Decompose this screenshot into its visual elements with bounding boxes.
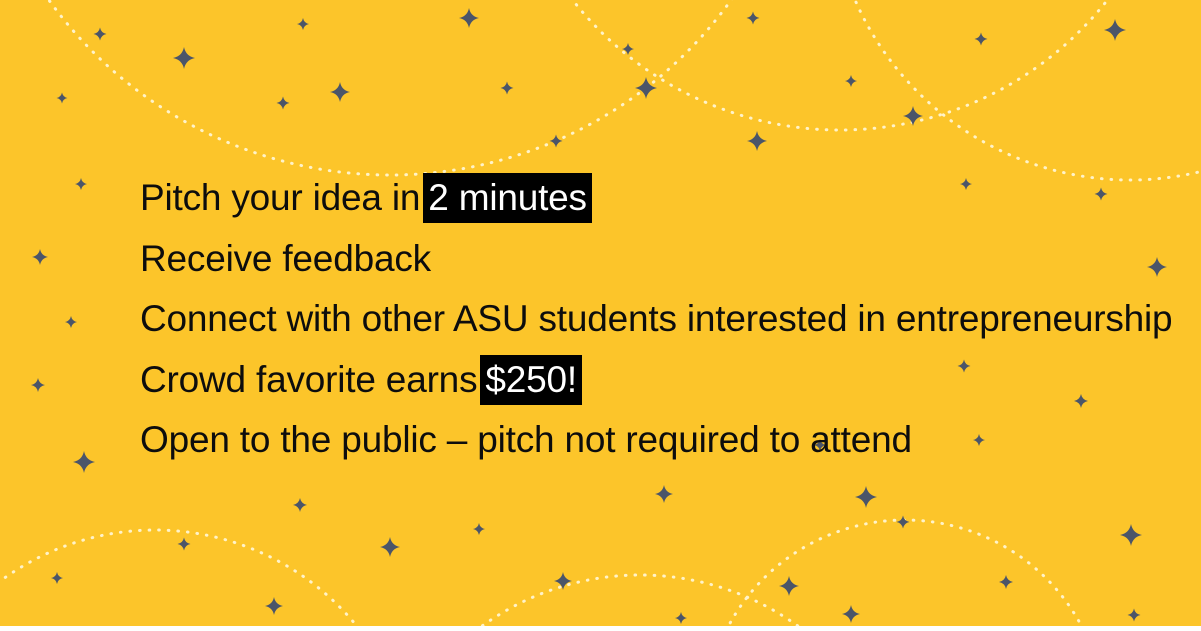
sparkle-star-icon [897,516,910,529]
sparkle-star-icon [1120,524,1142,546]
bullet-connect-students: Connect with other ASU students interest… [140,289,1140,350]
sparkle-star-icon [975,33,988,46]
sparkle-star-icon [75,178,87,190]
dotted-circle [0,530,415,631]
sparkle-star-icon [554,572,572,590]
sparkle-star-icon [65,316,77,328]
sparkle-star-icon [501,82,514,95]
sparkle-star-icon [747,131,767,151]
sparkle-star-icon [293,498,307,512]
sparkle-star-icon [94,28,107,41]
sparkle-star-icon [903,106,923,126]
sparkle-star-icon [277,97,290,110]
sparkle-star-icon [999,575,1013,589]
bullet-text: Pitch your idea in [140,177,420,218]
bullet-receive-feedback: Receive feedback [140,229,1140,290]
sparkle-star-icon [842,605,860,623]
sparkle-star-icon [265,597,283,615]
sparkle-star-icon [635,77,657,99]
sparkle-star-icon [855,486,877,508]
sparkle-star-icon [32,249,48,265]
sparkle-star-icon [73,451,95,473]
bullet-text: Crowd favorite earns [140,359,477,400]
dotted-circle [0,0,810,175]
bullet-list: Pitch your idea in2 minutesReceive feedb… [140,168,1140,471]
bullet-pitch-duration: Pitch your idea in2 minutes [140,168,1140,229]
bullet-text: Receive feedback [140,238,431,279]
dotted-circle [370,575,910,631]
sparkle-star-icon [51,572,63,584]
bullet-text: Open to the public – pitch not required … [140,419,912,460]
bottom-white-strip [0,626,1201,631]
sparkle-star-icon [675,612,687,624]
sparkle-star-icon [178,538,191,551]
bullet-text: Connect with other ASU students interest… [140,298,1172,339]
sparkle-star-icon [550,135,563,148]
dotted-circle [705,520,1105,631]
dotted-circle [500,0,1180,130]
sparkle-star-icon [1104,19,1126,41]
sparkle-star-icon [779,576,799,596]
sparkle-star-icon [297,18,309,30]
sparkle-star-icon [845,75,857,87]
sparkle-star-icon [173,47,195,69]
sparkle-star-icon [655,485,673,503]
bullet-crowd-favorite-prize: Crowd favorite earns$250! [140,350,1140,411]
sparkle-star-icon [747,12,760,25]
sparkle-star-icon [622,43,634,55]
sparkle-star-icon [330,82,350,102]
sparkle-star-icon [1147,257,1167,277]
sparkle-star-icon [380,537,400,557]
slide-canvas: Pitch your idea in2 minutesReceive feedb… [0,0,1201,631]
highlight-chip: $250! [480,355,582,405]
highlight-chip: 2 minutes [423,173,592,223]
sparkle-star-icon [1128,609,1141,622]
sparkle-star-icon [459,8,479,28]
dotted-circle [830,0,1201,180]
sparkle-star-icon [473,523,485,535]
sparkle-star-icon [57,93,68,104]
bullet-open-to-public: Open to the public – pitch not required … [140,410,1140,471]
sparkle-star-icon [31,378,45,392]
